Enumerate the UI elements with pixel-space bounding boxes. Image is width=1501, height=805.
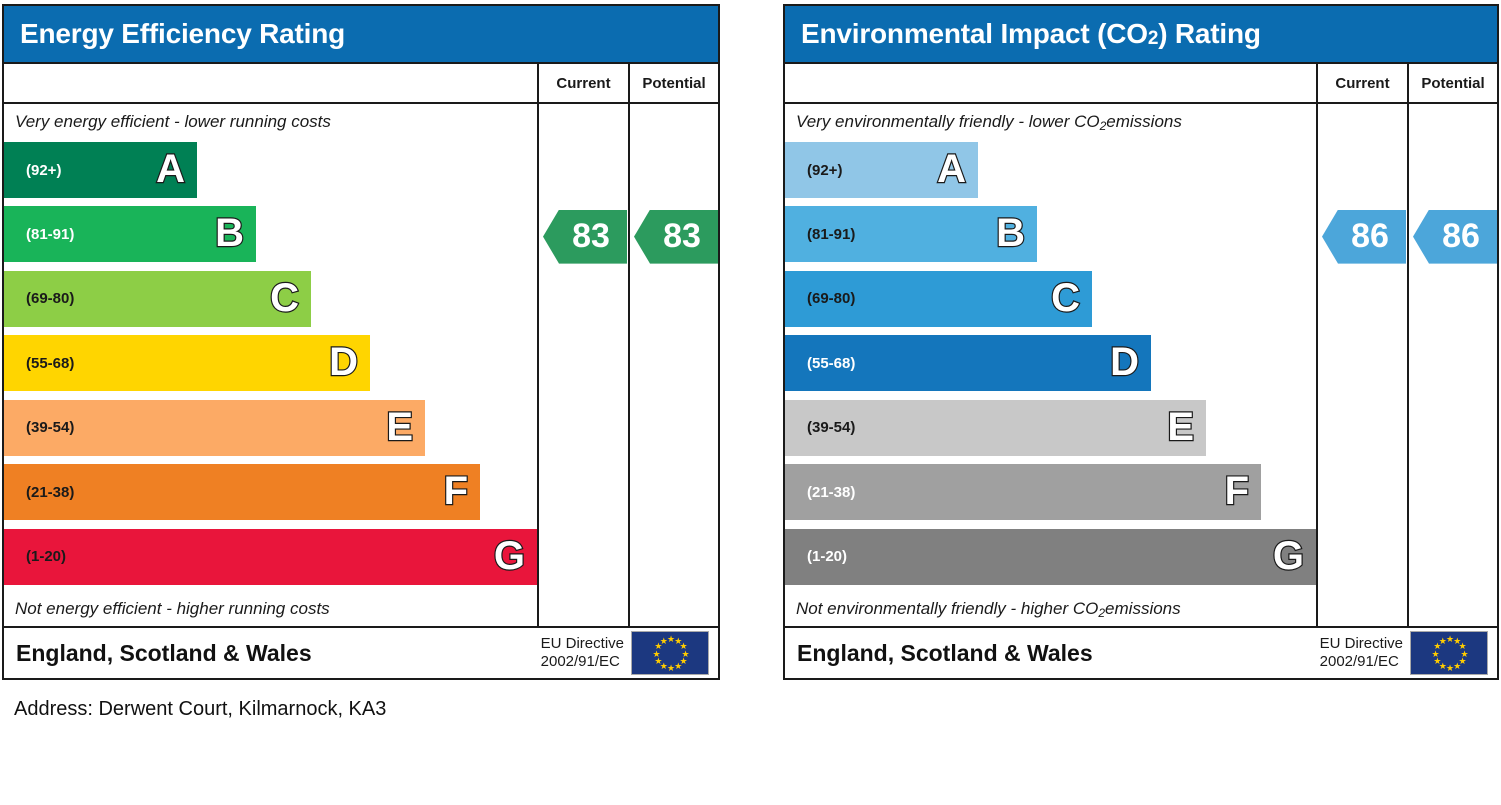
environmental-impact-panel: Environmental Impact (CO2) Rating Curren… bbox=[783, 4, 1499, 680]
eu-star-icon: ★ bbox=[659, 637, 668, 646]
environmental-bar-c: (69-80)C bbox=[785, 271, 1092, 327]
environmental-caption-bot-sub: 2 bbox=[1098, 606, 1105, 620]
energy-header-potential: Potential bbox=[628, 64, 718, 102]
energy-caption-top: Very energy efficient - lower running co… bbox=[4, 104, 537, 140]
energy-bar-a: (92+)A bbox=[4, 142, 197, 198]
energy-bar-list: (92+)A(81-91)B(69-80)C(55-68)D(39-54)E(2… bbox=[4, 140, 537, 591]
energy-footer: England, Scotland & Wales EU Directive 2… bbox=[4, 626, 718, 678]
energy-band-label-a: (92+) bbox=[4, 162, 61, 179]
energy-column-header-row: Current Potential bbox=[4, 64, 718, 104]
environmental-caption-bottom: Not environmentally friendly - higher CO… bbox=[785, 591, 1316, 626]
energy-potential-cell: 83 bbox=[628, 104, 718, 626]
energy-panel-title: Energy Efficiency Rating bbox=[4, 6, 718, 62]
energy-footer-region: England, Scotland & Wales bbox=[16, 640, 541, 667]
environmental-bar-b: (81-91)B bbox=[785, 206, 1037, 262]
energy-eu-directive: EU Directive 2002/91/EC bbox=[541, 635, 631, 670]
environmental-band-letter-a: A bbox=[937, 149, 966, 189]
environmental-band-label-b: (81-91) bbox=[785, 226, 855, 243]
energy-caption-bottom: Not energy efficient - higher running co… bbox=[4, 591, 537, 626]
energy-band-label-g: (1-20) bbox=[4, 548, 66, 565]
environmental-column-header-row: Current Potential bbox=[785, 64, 1497, 104]
environmental-caption-top-pre: Very environmentally friendly - lower CO bbox=[796, 112, 1100, 132]
environmental-band-letter-d: D bbox=[1110, 342, 1139, 382]
energy-band-letter-g: G bbox=[494, 536, 525, 576]
environmental-panel-title: Environmental Impact (CO2) Rating bbox=[785, 6, 1497, 62]
energy-current-cell: 83 bbox=[537, 104, 628, 626]
eu-star-icon: ★ bbox=[1438, 637, 1447, 646]
environmental-band-label-f: (21-38) bbox=[785, 484, 855, 501]
energy-eu-directive-line1: EU Directive bbox=[541, 635, 624, 653]
environmental-bar-e: (39-54)E bbox=[785, 400, 1206, 456]
environmental-eu-directive-line1: EU Directive bbox=[1320, 635, 1403, 653]
environmental-footer-region: England, Scotland & Wales bbox=[797, 640, 1320, 667]
environmental-current-rating-badge: 86 bbox=[1322, 210, 1406, 264]
energy-band-label-b: (81-91) bbox=[4, 226, 74, 243]
environmental-bar-f: (21-38)F bbox=[785, 464, 1261, 520]
energy-band-label-e: (39-54) bbox=[4, 419, 74, 436]
energy-band-letter-a: A bbox=[156, 149, 185, 189]
environmental-chart-area: Very environmentally friendly - lower CO… bbox=[785, 104, 1316, 626]
energy-band-label-d: (55-68) bbox=[4, 355, 74, 372]
energy-band-letter-c: C bbox=[270, 278, 299, 318]
epc-page: Energy Efficiency Rating Current Potenti… bbox=[0, 0, 1501, 805]
environmental-bar-g: (1-20)G bbox=[785, 529, 1316, 585]
environmental-band-label-e: (39-54) bbox=[785, 419, 855, 436]
energy-chart-row: Very energy efficient - lower running co… bbox=[4, 104, 718, 626]
environmental-footer: England, Scotland & Wales EU Directive 2… bbox=[785, 626, 1497, 678]
environmental-potential-cell: 86 bbox=[1407, 104, 1497, 626]
energy-chart-area: Very energy efficient - lower running co… bbox=[4, 104, 537, 626]
environmental-eu-directive-line2: 2002/91/EC bbox=[1320, 653, 1403, 671]
environmental-header-potential: Potential bbox=[1407, 64, 1497, 102]
environmental-caption-bot-pre: Not environmentally friendly - higher CO bbox=[796, 599, 1098, 619]
energy-eu-directive-line2: 2002/91/EC bbox=[541, 653, 624, 671]
environmental-caption-top-post: emissions bbox=[1106, 112, 1182, 132]
environmental-header-spacer bbox=[785, 64, 1316, 102]
energy-band-letter-d: D bbox=[329, 342, 358, 382]
eu-flag-icon: ★★★★★★★★★★★★ bbox=[631, 631, 709, 675]
energy-potential-rating-badge: 83 bbox=[634, 210, 718, 264]
environmental-title-prefix: Environmental Impact (CO bbox=[801, 18, 1148, 50]
environmental-eu-directive: EU Directive 2002/91/EC bbox=[1320, 635, 1410, 670]
energy-bar-d: (55-68)D bbox=[4, 335, 370, 391]
environmental-band-letter-g: G bbox=[1273, 536, 1304, 576]
energy-bar-g: (1-20)G bbox=[4, 529, 537, 585]
energy-bar-c: (69-80)C bbox=[4, 271, 311, 327]
environmental-band-label-d: (55-68) bbox=[785, 355, 855, 372]
environmental-title-suffix: ) Rating bbox=[1158, 18, 1261, 50]
environmental-potential-rating-badge: 86 bbox=[1413, 210, 1497, 264]
energy-panel-body: Current Potential Very energy efficient … bbox=[4, 62, 718, 626]
eu-flag-icon: ★★★★★★★★★★★★ bbox=[1410, 631, 1488, 675]
environmental-bar-d: (55-68)D bbox=[785, 335, 1151, 391]
energy-bar-f: (21-38)F bbox=[4, 464, 480, 520]
energy-band-letter-e: E bbox=[386, 407, 413, 447]
environmental-bar-list: (92+)A(81-91)B(69-80)C(55-68)D(39-54)E(2… bbox=[785, 140, 1316, 591]
environmental-caption-bot-post: emissions bbox=[1105, 599, 1181, 619]
energy-bar-b: (81-91)B bbox=[4, 206, 256, 262]
property-address: Address: Derwent Court, Kilmarnock, KA3 bbox=[14, 698, 386, 721]
environmental-band-letter-f: F bbox=[1225, 471, 1249, 511]
environmental-band-letter-e: E bbox=[1167, 407, 1194, 447]
energy-bar-e: (39-54)E bbox=[4, 400, 425, 456]
environmental-title-sub: 2 bbox=[1148, 28, 1158, 50]
environmental-panel-body: Current Potential Very environmentally f… bbox=[785, 62, 1497, 626]
environmental-header-current: Current bbox=[1316, 64, 1407, 102]
energy-band-letter-f: F bbox=[444, 471, 468, 511]
environmental-chart-row: Very environmentally friendly - lower CO… bbox=[785, 104, 1497, 626]
environmental-bar-a: (92+)A bbox=[785, 142, 978, 198]
environmental-current-cell: 86 bbox=[1316, 104, 1407, 626]
environmental-band-label-g: (1-20) bbox=[785, 548, 847, 565]
environmental-caption-top: Very environmentally friendly - lower CO… bbox=[785, 104, 1316, 140]
environmental-band-label-a: (92+) bbox=[785, 162, 842, 179]
environmental-band-letter-b: B bbox=[996, 214, 1025, 254]
energy-header-spacer bbox=[4, 64, 537, 102]
energy-current-rating-badge: 83 bbox=[543, 210, 627, 264]
energy-panel-title-text: Energy Efficiency Rating bbox=[20, 18, 345, 50]
energy-band-label-f: (21-38) bbox=[4, 484, 74, 501]
energy-band-label-c: (69-80) bbox=[4, 290, 74, 307]
energy-band-letter-b: B bbox=[215, 214, 244, 254]
energy-efficiency-panel: Energy Efficiency Rating Current Potenti… bbox=[2, 4, 720, 680]
environmental-caption-top-sub: 2 bbox=[1100, 119, 1107, 133]
environmental-band-label-c: (69-80) bbox=[785, 290, 855, 307]
energy-header-current: Current bbox=[537, 64, 628, 102]
environmental-band-letter-c: C bbox=[1051, 278, 1080, 318]
